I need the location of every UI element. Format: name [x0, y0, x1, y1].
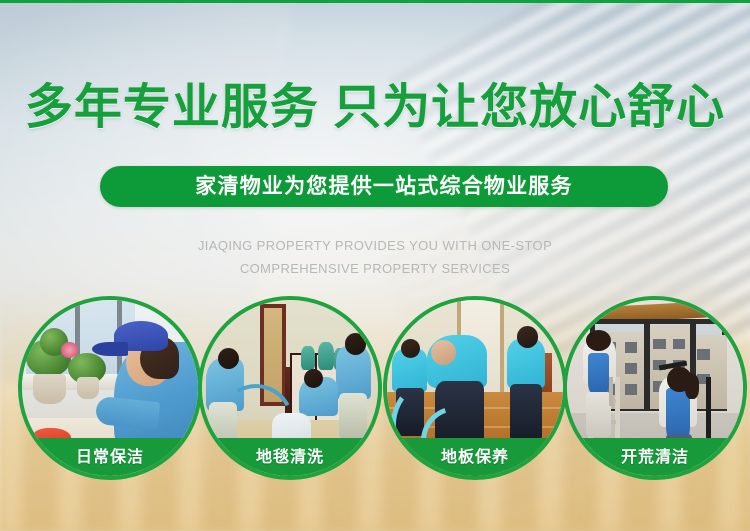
- service-item-daily-cleaning[interactable]: 日常保洁: [18, 296, 202, 480]
- service-circle-row: 日常保洁: [0, 296, 750, 486]
- tagline-pill-label: 家清物业为您提供一站式综合物业服务: [195, 176, 572, 197]
- service-item-rough-cleaning[interactable]: 开荒清洁: [563, 296, 747, 480]
- service-label-daily-cleaning: 日常保洁: [76, 450, 144, 466]
- service-item-carpet-cleaning[interactable]: 地毯清洗: [198, 296, 382, 480]
- service-label-band: 地毯清洗: [198, 438, 382, 480]
- page-title: 多年专业服务 只为让您放心舒心: [0, 84, 750, 132]
- service-label-band: 地板保养: [383, 438, 567, 480]
- service-label-floor-maintenance: 地板保养: [441, 450, 509, 466]
- subtitle-line-2: COMPREHENSIVE PROPERTY SERVICES: [0, 257, 750, 280]
- service-photo-frame: 地毯清洗: [198, 296, 382, 480]
- service-item-floor-maintenance[interactable]: 地板保养: [383, 296, 567, 480]
- tagline-pill: 家清物业为您提供一站式综合物业服务: [100, 166, 668, 207]
- service-photo-frame: 日常保洁: [18, 296, 202, 480]
- service-label-band: 日常保洁: [18, 438, 202, 480]
- promo-banner: 多年专业服务 只为让您放心舒心 家清物业为您提供一站式综合物业服务 JIAQIN…: [0, 0, 750, 531]
- subtitle: JIAQING PROPERTY PROVIDES YOU WITH ONE-S…: [0, 234, 750, 280]
- service-photo-frame: 地板保养: [383, 296, 567, 480]
- service-label-carpet-cleaning: 地毯清洗: [256, 450, 324, 466]
- top-accent-rule: [0, 0, 750, 3]
- service-label-band: 开荒清洁: [563, 438, 747, 480]
- subtitle-line-1: JIAQING PROPERTY PROVIDES YOU WITH ONE-S…: [0, 234, 750, 257]
- service-photo-frame: 开荒清洁: [563, 296, 747, 480]
- service-label-rough-cleaning: 开荒清洁: [621, 450, 689, 466]
